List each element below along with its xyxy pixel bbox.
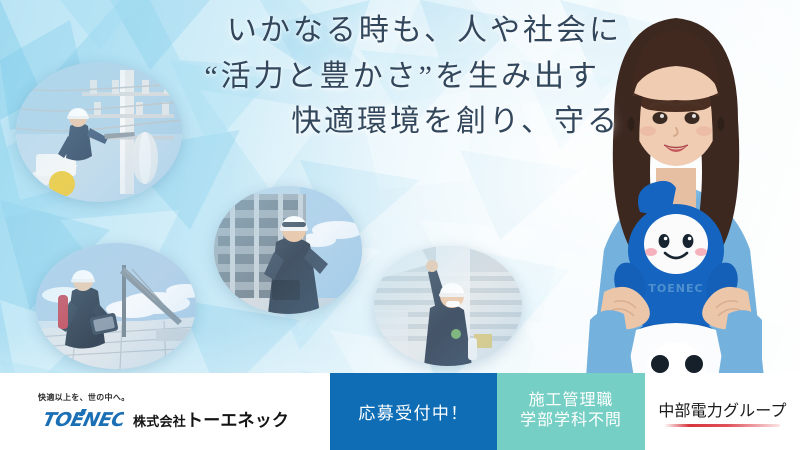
svg-text:TOENEC: TOENEC: [648, 282, 703, 295]
cta-apply-button[interactable]: 応募受付中！: [330, 373, 497, 450]
company-main: トーエネック: [186, 411, 289, 431]
group-label: 中部電力グループ: [658, 397, 786, 421]
company-name: 株式会社トーエネック: [133, 406, 289, 431]
brand-block: 快適以上を、世の中へ。 TOENEC 株式会社トーエネック: [0, 373, 330, 450]
footer-bar: 快適以上を、世の中へ。 TOENEC 株式会社トーエネック 応募受付中！ 施工管…: [0, 373, 800, 450]
company-prefix: 株式会社: [133, 415, 186, 430]
cta-job-info[interactable]: 施工管理職 学部学科不問: [497, 373, 645, 450]
group-block: 中部電力グループ: [645, 373, 800, 450]
recruit-banner: いかなる時も、人や社会に “活力と豊かさ”を生み出す 快適環境を創り、守る: [0, 0, 800, 450]
brand-tagline: 快適以上を、世の中へ。: [38, 392, 330, 403]
headline-line-3: 快適環境を創り、守る: [0, 99, 640, 145]
page-title: いかなる時も、人や社会に “活力と豊かさ”を生み出す 快適環境を創り、守る: [0, 8, 640, 145]
job-requirement-label: 学部学科不問: [520, 412, 622, 431]
photo-indoor-inspection-worker: [374, 246, 522, 366]
headline-line-1: いかなる時も、人や社会に: [0, 8, 640, 54]
toenec-logo-icon: TOENEC: [38, 407, 124, 431]
headline-line-2: “活力と豊かさ”を生み出す: [0, 54, 640, 100]
job-role-label: 施工管理職: [529, 392, 614, 411]
photo-building-site-worker: [214, 186, 362, 314]
photo-solar-site-worker: [36, 243, 196, 369]
cta-apply-label: 応募受付中！: [358, 399, 468, 424]
group-underline: [664, 424, 780, 427]
